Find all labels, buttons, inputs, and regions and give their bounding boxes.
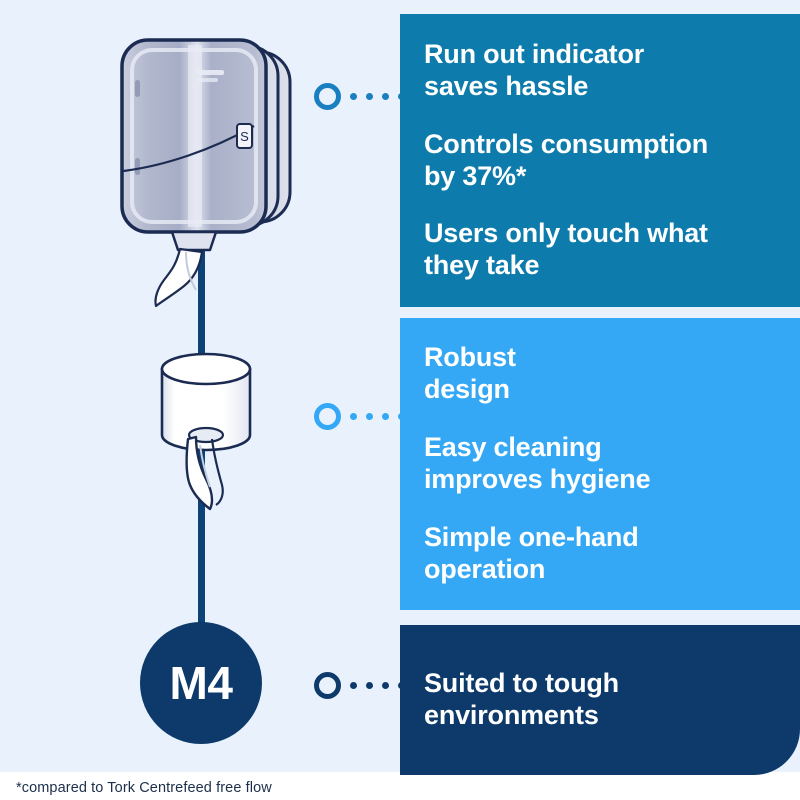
panel-tough: Suited to tough environments (400, 625, 800, 775)
m4-badge-label: M4 (170, 660, 233, 706)
connector-ring-icon (314, 403, 341, 430)
panel-robust: Robust design Easy cleaning improves hyg… (400, 318, 800, 610)
feature-item: Easy cleaning improves hygiene (424, 423, 778, 505)
connector-panel-1 (314, 83, 414, 110)
feature-item: Robust design (424, 333, 778, 415)
paper-roll-illustration (140, 345, 275, 520)
m4-badge: M4 (140, 622, 262, 744)
connector-panel-2 (314, 403, 414, 430)
footnote: *compared to Tork Centrefeed free flow (16, 780, 272, 796)
feature-item: Users only touch what they take (424, 209, 778, 291)
infographic-root: S (0, 0, 800, 800)
connector-panel-3 (314, 672, 414, 699)
dispenser-label-glyph: S (240, 129, 249, 144)
connector-ring-icon (314, 83, 341, 110)
feature-item: Controls consumption by 37%* (424, 120, 778, 202)
feature-item: Simple one-hand operation (424, 513, 778, 595)
panel-run-out: Run out indicator saves hassle Controls … (400, 14, 800, 307)
centrefeed-dispenser-illustration: S (104, 18, 304, 318)
feature-item: Suited to tough environments (424, 659, 778, 741)
connector-ring-icon (314, 672, 341, 699)
feature-item: Run out indicator saves hassle (424, 30, 778, 112)
